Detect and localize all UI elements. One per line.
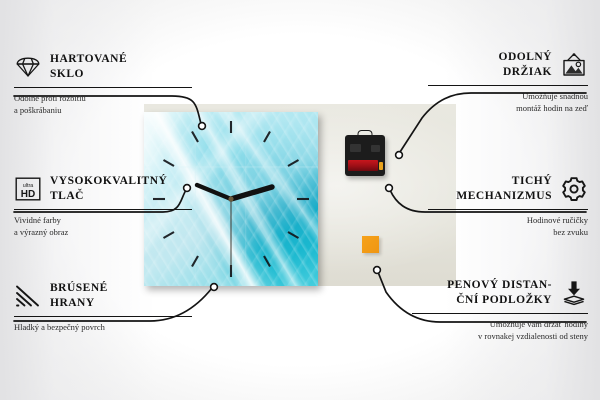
divider [14,87,192,88]
svg-text:HD: HD [21,189,35,200]
feature-header: TICHÝ MECHANIZMUS [428,172,588,206]
foam-spacer-pad [362,236,379,253]
mechanism-detail [371,145,380,152]
feature-header: ODOLNÝ DRŽIAK [428,48,588,82]
divider [412,313,588,314]
gear-icon [560,175,588,203]
feature-block-holder: ODOLNÝ DRŽIAK Umožňuje snadnou montáž ho… [428,48,588,114]
feature-title: BRÚSENÉ HRANY [50,281,192,310]
divider [14,209,192,210]
feature-header: HARTOVANÉ SKLO [14,50,192,84]
feature-description: Hladký a bezpečný povrch [14,321,192,333]
mechanism-hanger-lug [358,130,373,138]
feature-title: VYSOKOKVALITNÝ TLAČ [50,174,192,203]
feature-header: ultra HD VYSOKOKVALITNÝ TLAČ [14,172,192,206]
feature-block-mechanism: TICHÝ MECHANIZMUS Hodinové ručičky bez z… [428,172,588,238]
divider [428,85,588,86]
feature-block-print: ultra HD VYSOKOKVALITNÝ TLAČ Vividné far… [14,172,192,238]
ultra-hd-icon: ultra HD [14,175,42,203]
beveled-edge-icon [14,282,42,310]
feature-block-glass: HARTOVANÉ SKLO Odolné proti rozbitiu a p… [14,50,192,116]
picture-hanger-icon [560,51,588,79]
battery-terminal [379,162,383,170]
mechanism-detail [350,144,361,152]
feature-header: PENOVÝ DISTAN- ČNÍ PODLOŽKY [412,276,588,310]
feature-title: TICHÝ MECHANIZMUS [428,174,552,203]
feature-description: Odolné proti rozbitiu a poškrábaniu [14,92,192,116]
divider [14,316,192,317]
battery [348,160,378,171]
feature-description: Vividné farby a výrazný obraz [14,214,192,238]
spacer-pads-icon [560,279,588,307]
feature-description: Umožňuje vám držať hodiny v rovnakej vzd… [412,318,588,342]
feature-title: HARTOVANÉ SKLO [50,52,192,81]
product-infographic: HARTOVANÉ SKLO Odolné proti rozbitiu a p… [0,0,600,400]
clock-mechanism [345,135,385,176]
feature-block-edges: BRÚSENÉ HRANY Hladký a bezpečný povrch [14,279,192,333]
divider [428,209,588,210]
feature-header: BRÚSENÉ HRANY [14,279,192,313]
feature-description: Hodinové ručičky bez zvuku [428,214,588,238]
feature-title: ODOLNÝ DRŽIAK [428,50,552,79]
feature-block-spacer: PENOVÝ DISTAN- ČNÍ PODLOŽKY Umožňuje vám… [412,276,588,342]
feature-title: PENOVÝ DISTAN- ČNÍ PODLOŽKY [412,278,552,307]
feature-description: Umožňuje snadnou montáž hodin na zeď [428,90,588,114]
diamond-icon [14,53,42,81]
